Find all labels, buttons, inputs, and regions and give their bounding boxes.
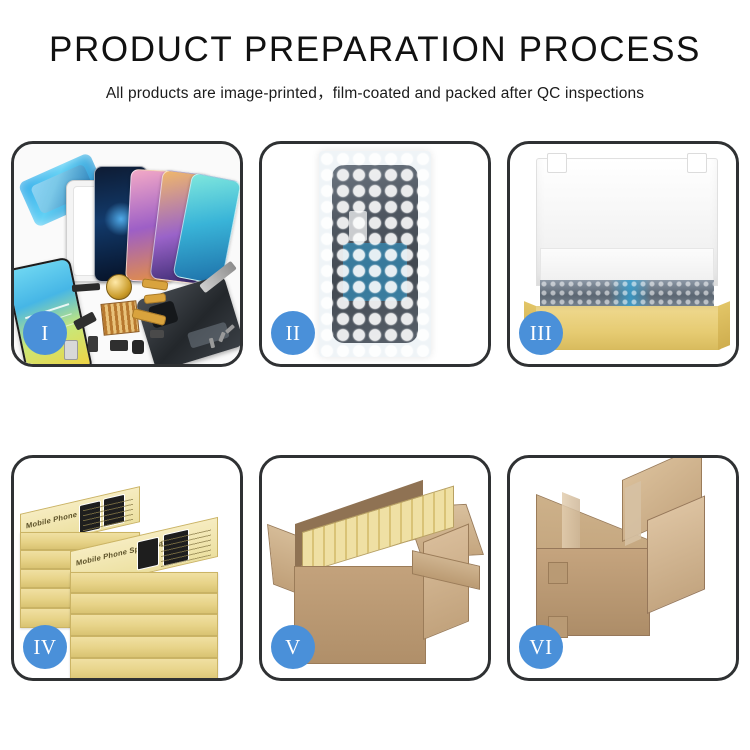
small-part-icon [64,340,78,360]
process-step-6[interactable]: VI [507,455,739,681]
step-badge-4: IV [23,625,67,669]
process-step-4[interactable]: Mobile Phone Spare Parts Mobile Phone Sp… [11,455,243,681]
phone-screen-fan [78,164,238,282]
packing-tape-icon [625,481,641,546]
coil-part-icon [106,274,132,300]
step-badge-1: I [23,311,67,355]
process-step-2[interactable]: II [259,141,491,367]
box-screen-image [137,537,159,571]
process-step-grid: I II III Mobile Phone S [11,141,739,681]
packed-products-icon [540,280,714,308]
process-step-5[interactable]: V [259,455,491,681]
page-subtitle: All products are image-printed，film-coat… [0,81,750,103]
small-part-icon [110,340,128,351]
retail-box-body [70,572,218,593]
bubble-wrap-bag-icon [319,151,431,357]
speaker-part-icon [72,283,100,292]
small-part-icon [132,340,144,354]
step-badge-6: VI [519,625,563,669]
small-part-icon [150,330,164,338]
foam-liner-icon [540,248,714,284]
page-header: PRODUCT PREPARATION PROCESS All products… [0,0,750,103]
bubble-texture [319,151,431,357]
retail-box-body [70,658,218,678]
page-title: PRODUCT PREPARATION PROCESS [0,32,750,69]
process-step-3[interactable]: III [507,141,739,367]
process-step-1[interactable]: I [11,141,243,367]
retail-box-body [70,614,218,636]
carton-flap-tab [548,562,568,584]
retail-box-body [70,636,218,658]
small-part-icon [88,336,98,352]
step-badge-2: II [271,311,315,355]
retail-box-body [70,593,218,614]
step-badge-5: V [271,625,315,669]
step-badge-3: III [519,311,563,355]
